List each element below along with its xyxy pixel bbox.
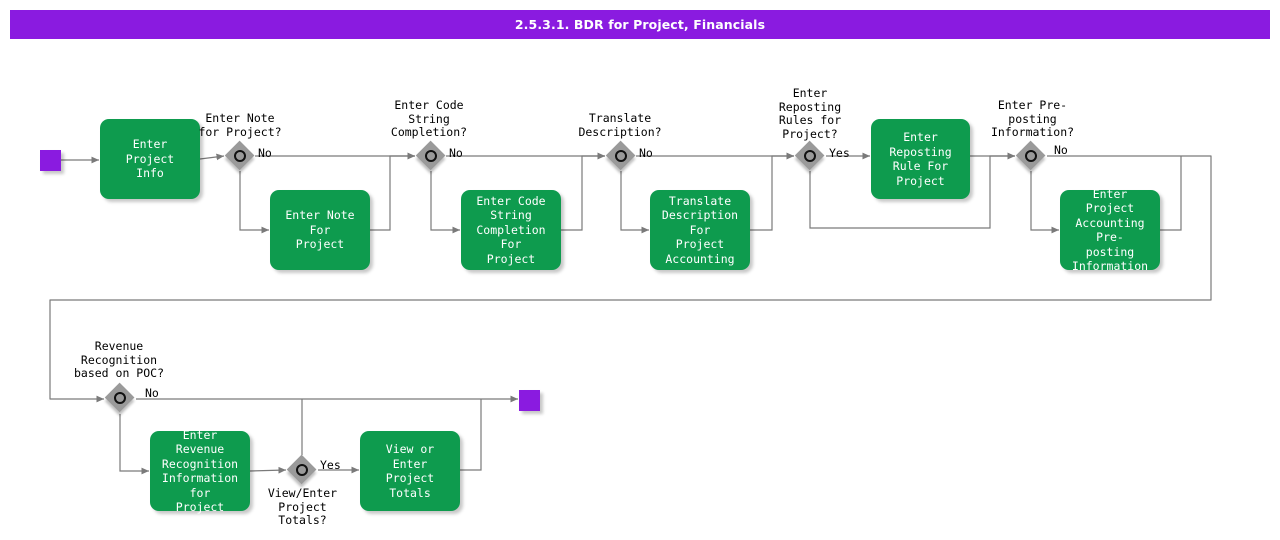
edge-label-gw5-no: No xyxy=(1054,143,1068,157)
edge-label-gw7-yes: Yes xyxy=(320,458,341,472)
task-label: Enter Project Info xyxy=(106,137,194,181)
edge-enter-preposting-info-to-rail xyxy=(1160,156,1181,230)
gateway-ring-icon xyxy=(804,150,816,162)
gateway-label-revenue-recognition-based-on-poc: Revenue Recognition based on POC? xyxy=(64,340,174,381)
gateway-ring-icon xyxy=(296,464,308,476)
gateway-label-enter-preposting-information: Enter Pre- posting Information? xyxy=(980,99,1085,140)
start-event[interactable] xyxy=(40,150,61,171)
gateway-label-enter-code-string-completion: Enter Code String Completion? xyxy=(379,99,479,140)
gateway-label-enter-note-for-project: Enter Note for Project? xyxy=(190,112,290,139)
gateway-label-enter-reposting-rules-for-project: Enter Reposting Rules for Project? xyxy=(760,87,860,141)
task-label: Enter Code String Completion For Project xyxy=(467,194,555,267)
gateway-ring-icon xyxy=(234,150,246,162)
task-enter-project-info[interactable]: Enter Project Info xyxy=(100,119,200,199)
task-enter-code-string-completion-for-project[interactable]: Enter Code String Completion For Project xyxy=(461,190,561,270)
task-enter-note-for-project[interactable]: Enter Note For Project xyxy=(270,190,370,270)
task-label: Enter Reposting Rule For Project xyxy=(877,130,964,188)
gateway-ring-icon xyxy=(114,392,126,404)
task-label: Enter Revenue Recognition Information fo… xyxy=(156,428,244,515)
edge-label-gw4-yes: Yes xyxy=(829,146,850,160)
gateway-translate-description[interactable] xyxy=(606,141,636,171)
edge-gw3-to-translate-description xyxy=(621,171,649,230)
gateway-ring-icon xyxy=(615,150,627,162)
gateway-enter-code-string-completion[interactable] xyxy=(416,141,446,171)
diagram-canvas: 2.5.3.1. BDR for Project, Financials xyxy=(0,0,1280,540)
task-label: View or Enter Project Totals xyxy=(366,442,454,500)
gateway-enter-note-for-project[interactable] xyxy=(225,141,255,171)
task-view-or-enter-project-totals[interactable]: View or Enter Project Totals xyxy=(360,431,460,511)
task-label: Enter Note For Project xyxy=(276,208,364,252)
gateway-label-translate-description: Translate Description? xyxy=(570,112,670,139)
edge-gw1-to-enter-note xyxy=(240,171,269,230)
task-label: Translate Description For Project Accoun… xyxy=(656,194,744,267)
gateway-ring-icon xyxy=(1025,150,1037,162)
edge-enter-note-to-gw2 xyxy=(370,156,415,230)
gateway-enter-preposting-information[interactable] xyxy=(1016,141,1046,171)
gateway-label-view-enter-project-totals: View/Enter Project Totals? xyxy=(250,487,355,528)
gateway-enter-reposting-rules-for-project[interactable] xyxy=(795,141,825,171)
edge-view-project-totals-to-end-rail xyxy=(460,399,481,470)
edge-enter-project-info-to-gw1 xyxy=(200,156,224,159)
edge-label-gw6-no: No xyxy=(145,386,159,400)
task-enter-reposting-rule-for-project[interactable]: Enter Reposting Rule For Project xyxy=(871,119,970,199)
edge-translate-description-to-gw4 xyxy=(750,156,794,230)
edge-gw5-no-to-right-rail xyxy=(50,156,1211,399)
gateway-view-enter-project-totals[interactable] xyxy=(287,455,317,485)
edge-label-gw3-no: No xyxy=(639,146,653,160)
task-translate-description-for-project-accounting[interactable]: Translate Description For Project Accoun… xyxy=(650,190,750,270)
edge-gw2-to-enter-code-string xyxy=(431,171,460,230)
edge-label-gw2-no: No xyxy=(449,146,463,160)
gateway-revenue-recognition-based-on-poc[interactable] xyxy=(105,383,135,413)
task-label: Enter Project Accounting Pre- posting In… xyxy=(1066,187,1154,274)
edge-gw6-to-enter-revenue-recognition xyxy=(120,414,149,471)
gateway-ring-icon xyxy=(425,150,437,162)
end-event[interactable] xyxy=(519,390,540,411)
edge-label-gw1-no: No xyxy=(258,146,272,160)
task-enter-project-accounting-preposting-information[interactable]: Enter Project Accounting Pre- posting In… xyxy=(1060,190,1160,270)
edge-enter-revenue-recognition-to-gw7 xyxy=(250,470,286,471)
task-enter-revenue-recognition-information-for-project[interactable]: Enter Revenue Recognition Information fo… xyxy=(150,431,250,511)
edge-gw5-to-enter-preposting-info xyxy=(1031,171,1059,230)
edge-enter-code-string-to-gw3 xyxy=(561,156,605,230)
